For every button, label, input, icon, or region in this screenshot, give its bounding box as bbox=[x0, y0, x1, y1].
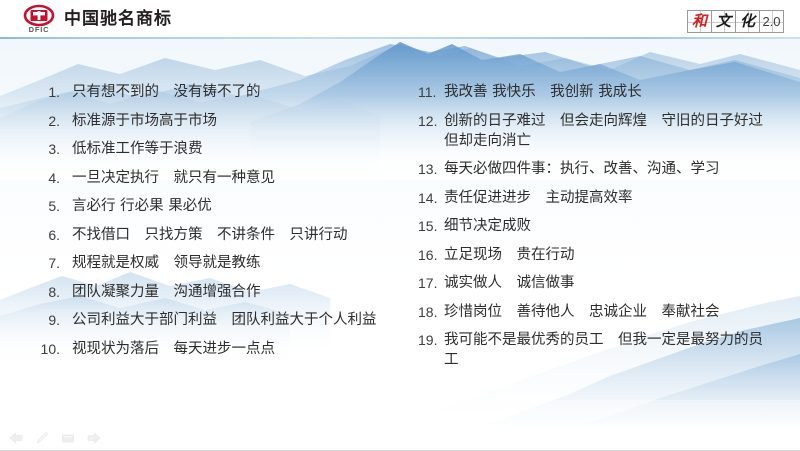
list-item-text: 不找借口 只找方策 不讲条件 只讲行动 bbox=[72, 225, 348, 245]
list-item-number: 10. bbox=[28, 339, 72, 359]
list-item-number: 8. bbox=[28, 282, 72, 302]
list-item-text: 我改善 我快乐 我创新 我成长 bbox=[444, 82, 642, 102]
bottom-toolbar bbox=[0, 424, 800, 451]
cal-cell-he: 和 bbox=[687, 10, 712, 33]
list-item-text: 公司利益大于部门利益 团队利益大于个人利益 bbox=[72, 310, 377, 330]
list-item: 13. 每天必做四件事：执行、改善、沟通、学习 bbox=[418, 159, 794, 179]
list-item-number: 3. bbox=[28, 139, 72, 159]
list-item: 14. 责任促进进步 主动提高效率 bbox=[418, 188, 794, 208]
list-item: 15. 细节决定成败 bbox=[418, 216, 794, 236]
list-item: 18. 珍惜岗位 善待他人 忠诚企业 奉献社会 bbox=[418, 302, 794, 322]
pen-icon[interactable] bbox=[34, 430, 50, 446]
list-item: 12. 创新的日子难过 但会走向辉煌 守旧的日子好过 但却走向消亡 bbox=[418, 111, 794, 151]
list-item-text: 责任促进进步 主动提高效率 bbox=[444, 188, 633, 208]
cal-cell-wen: 文 bbox=[711, 10, 736, 33]
back-arrow-icon[interactable] bbox=[8, 430, 24, 446]
cal-glyph-version: 2.0 bbox=[762, 12, 780, 32]
list-item: 19. 我可能不是最优秀的员工 但我一定是最努力的员工 bbox=[418, 330, 794, 370]
list-item-number: 4. bbox=[28, 168, 72, 188]
slide-canvas: DFIC 中国驰名商标 和 文 化 2.0 1. 只有想不到的 没有铸不了的 bbox=[0, 0, 800, 451]
dfic-oval-logo-icon: DFIC bbox=[22, 4, 56, 35]
list-item: 5. 言必行 行必果 果必优 bbox=[28, 196, 413, 216]
list-item-text: 每天必做四件事：执行、改善、沟通、学习 bbox=[444, 159, 720, 179]
list-item-text: 只有想不到的 没有铸不了的 bbox=[72, 82, 261, 102]
brand-title: 中国驰名商标 bbox=[64, 4, 172, 35]
list-item-number: 1. bbox=[28, 82, 72, 102]
list-item-number: 19. bbox=[418, 330, 444, 350]
list-item-number: 9. bbox=[28, 310, 72, 330]
list-item-text: 言必行 行必果 果必优 bbox=[72, 196, 212, 216]
list-item-number: 13. bbox=[418, 159, 444, 179]
cal-cell-hua: 化 bbox=[735, 10, 760, 33]
list-item: 17. 诚实做人 诚信做事 bbox=[418, 273, 794, 293]
forward-arrow-icon[interactable] bbox=[86, 430, 102, 446]
list-item-number: 15. bbox=[418, 216, 444, 236]
list-item: 10. 视现状为落后 每天进步一点点 bbox=[28, 339, 413, 359]
list-item-text: 创新的日子难过 但会走向辉煌 守旧的日子好过 但却走向消亡 bbox=[444, 111, 774, 151]
list-item: 7. 规程就是权威 领导就是教练 bbox=[28, 253, 413, 273]
list-item: 1. 只有想不到的 没有铸不了的 bbox=[28, 82, 413, 102]
left-column: 1. 只有想不到的 没有铸不了的 2. 标准源于市场高于市场 3. 低标准工作等… bbox=[28, 82, 413, 367]
list-item-text: 视现状为落后 每天进步一点点 bbox=[72, 339, 275, 359]
list-item-number: 11. bbox=[418, 82, 444, 102]
list-item: 2. 标准源于市场高于市场 bbox=[28, 111, 413, 131]
list-item-text: 立足现场 贵在行动 bbox=[444, 245, 575, 265]
list-item: 11. 我改善 我快乐 我创新 我成长 bbox=[418, 82, 794, 102]
list-item-number: 6. bbox=[28, 225, 72, 245]
list-item-text: 珍惜岗位 善待他人 忠诚企业 奉献社会 bbox=[444, 302, 720, 322]
list-item: 16. 立足现场 贵在行动 bbox=[418, 245, 794, 265]
list-item-text: 规程就是权威 领导就是教练 bbox=[72, 253, 261, 273]
cal-glyph: 化 bbox=[740, 14, 755, 29]
header-divider bbox=[0, 37, 800, 39]
list-item-text: 我可能不是最优秀的员工 但我一定是最努力的员工 bbox=[444, 330, 774, 370]
list-item-number: 5. bbox=[28, 196, 72, 216]
he-wenhua-2-0-badge: 和 文 化 2.0 bbox=[688, 10, 784, 33]
list-item-number: 18. bbox=[418, 302, 444, 322]
slide-header: DFIC 中国驰名商标 bbox=[0, 0, 800, 39]
toolbar-icon-group bbox=[8, 430, 102, 446]
list-item-text: 团队凝聚力量 沟通增强合作 bbox=[72, 282, 261, 302]
list-item-number: 2. bbox=[28, 111, 72, 131]
list-item-text: 一旦决定执行 就只有一种意见 bbox=[72, 168, 275, 188]
list-item: 6. 不找借口 只找方策 不讲条件 只讲行动 bbox=[28, 225, 413, 245]
rectangle-icon[interactable] bbox=[60, 430, 76, 446]
list-item-number: 17. bbox=[418, 273, 444, 293]
list-item-text: 低标准工作等于浪费 bbox=[72, 139, 203, 159]
list-item-number: 14. bbox=[418, 188, 444, 208]
list-item: 9. 公司利益大于部门利益 团队利益大于个人利益 bbox=[28, 310, 413, 330]
right-column: 11. 我改善 我快乐 我创新 我成长 12. 创新的日子难过 但会走向辉煌 守… bbox=[418, 82, 794, 379]
list-item-text: 诚实做人 诚信做事 bbox=[444, 273, 575, 293]
cal-cell-version: 2.0 bbox=[759, 10, 784, 33]
list-item-number: 7. bbox=[28, 253, 72, 273]
list-item: 4. 一旦决定执行 就只有一种意见 bbox=[28, 168, 413, 188]
cal-glyph: 和 bbox=[692, 14, 707, 29]
brand: DFIC 中国驰名商标 bbox=[22, 4, 172, 35]
cal-glyph: 文 bbox=[716, 14, 731, 29]
list-item: 8. 团队凝聚力量 沟通增强合作 bbox=[28, 282, 413, 302]
list-item-number: 12. bbox=[418, 111, 444, 131]
list-item-text: 标准源于市场高于市场 bbox=[72, 111, 217, 131]
list-item-text: 细节决定成败 bbox=[444, 216, 531, 236]
svg-text:DFIC: DFIC bbox=[29, 25, 50, 34]
list-item-number: 16. bbox=[418, 245, 444, 265]
list-item: 3. 低标准工作等于浪费 bbox=[28, 139, 413, 159]
